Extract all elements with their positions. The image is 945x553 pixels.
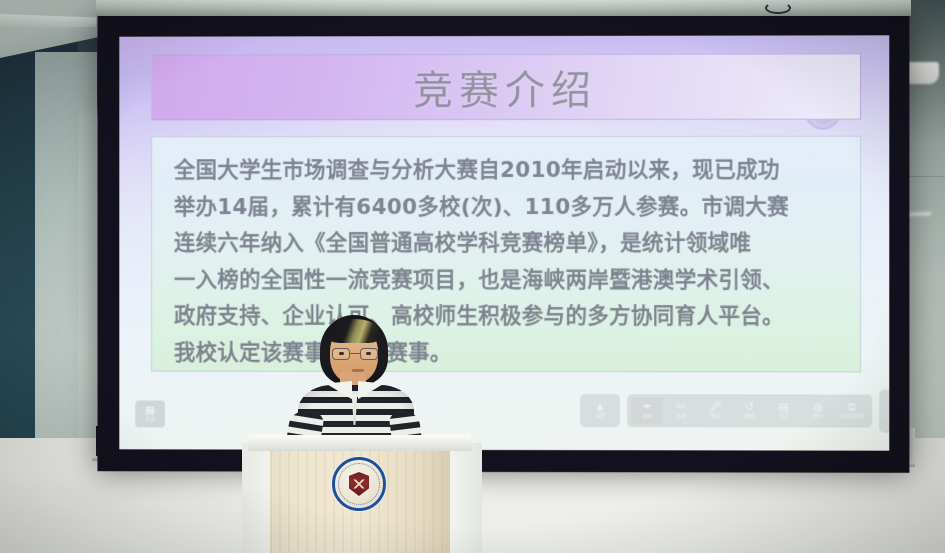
blackscreen-button[interactable]: ▤ 黑屏: [768, 397, 800, 424]
blackscreen-icon: ▤: [778, 402, 788, 412]
mouth: [352, 369, 364, 372]
ink-label: 墨迹: [676, 413, 686, 419]
projection-screen-surface: 竞赛介绍 全国大学生市场调查与分析大赛自2010年启动以来，现已成功 举办14届…: [119, 35, 889, 450]
lecture-hall-scene: 竞赛介绍 全国大学生市场调查与分析大赛自2010年启动以来，现已成功 举办14届…: [0, 0, 945, 553]
spotlight-icon: ◍: [813, 402, 823, 412]
eraser-icon: 🖉: [709, 402, 721, 412]
screen-roller-housing: [96, 0, 911, 16]
undo-icon: ↺: [745, 402, 754, 412]
presenter-view-icon: ⧉: [848, 402, 856, 412]
slide-navigation: ‹ 上一页 3 / 16 页码 › 下一页: [879, 389, 889, 432]
eye-right: [366, 352, 371, 355]
podium-side-left: [242, 443, 272, 553]
slide-thumbnail-button[interactable]: ▦ 目录: [135, 400, 165, 427]
eraser-button[interactable]: 🖉 橡皮: [699, 397, 731, 424]
toolbar-group-pointer: ▲ 返回: [580, 394, 620, 427]
crest-shield: [349, 472, 369, 496]
pointer-label: 返回: [595, 413, 605, 419]
pencil-icon: ✏: [677, 402, 686, 412]
undo-button[interactable]: ↺ 撤销: [733, 397, 765, 424]
presentation-slide[interactable]: 竞赛介绍 全国大学生市场调查与分析大赛自2010年启动以来，现已成功 举办14届…: [119, 35, 889, 450]
housing-bracket: [765, 2, 791, 14]
slide-title-banner: 竞赛介绍: [151, 53, 861, 120]
podium-side-right: [448, 443, 482, 553]
grid-icon: ▦: [145, 405, 155, 415]
undo-label: 撤销: [744, 413, 754, 419]
eye-left: [339, 352, 344, 355]
blackscreen-label: 黑屏: [779, 413, 789, 419]
presenter-view-label: 演讲者视图: [839, 414, 864, 420]
slide-body-text: 全国大学生市场调查与分析大赛自2010年启动以来，现已成功 举办14届，累计有6…: [174, 153, 840, 373]
pen-button[interactable]: ✒ 画笔: [631, 397, 663, 424]
page-title: 竞赛介绍: [413, 58, 597, 116]
left-wall-panel: [35, 52, 97, 472]
chevron-left-icon: ‹: [884, 402, 889, 414]
eraser-label: 橡皮: [710, 413, 720, 419]
slide-thumbnail-label: 目录: [145, 416, 155, 422]
toolbar-group-tools: ✒ 画笔 ✏ 墨迹 🖉 橡皮 ↺ 撤销: [627, 394, 872, 427]
pointer-button[interactable]: ▲ 返回: [584, 397, 616, 424]
pointer-icon: ▲: [595, 402, 606, 412]
ink-button[interactable]: ✏ 墨迹: [665, 397, 697, 424]
hair-fringe: [328, 319, 380, 343]
presenter-view-button[interactable]: ⧉ 演讲者视图: [836, 397, 868, 424]
podium-top-surface: [248, 435, 472, 451]
glasses-bridge: [350, 353, 360, 354]
presenter-toolbar[interactable]: ▲ 返回 ✒ 画笔 ✏ 墨迹: [580, 389, 889, 433]
projection-screen-frame: 竞赛介绍 全国大学生市场调查与分析大赛自2010年启动以来，现已成功 举办14届…: [97, 13, 909, 473]
pen-label: 画笔: [642, 413, 652, 419]
university-crest-emblem: [332, 457, 386, 511]
spotlight-label: 聚光: [813, 413, 823, 419]
slide-body-box: 全国大学生市场调查与分析大赛自2010年启动以来，现已成功 举办14届，累计有6…: [151, 136, 861, 373]
spotlight-button[interactable]: ◍ 聚光: [802, 397, 834, 424]
prev-slide-label: 上一页: [884, 414, 889, 421]
podium: [270, 443, 450, 553]
prev-slide-button[interactable]: ‹ 上一页: [884, 402, 889, 421]
pen-icon: ✒: [643, 402, 652, 412]
